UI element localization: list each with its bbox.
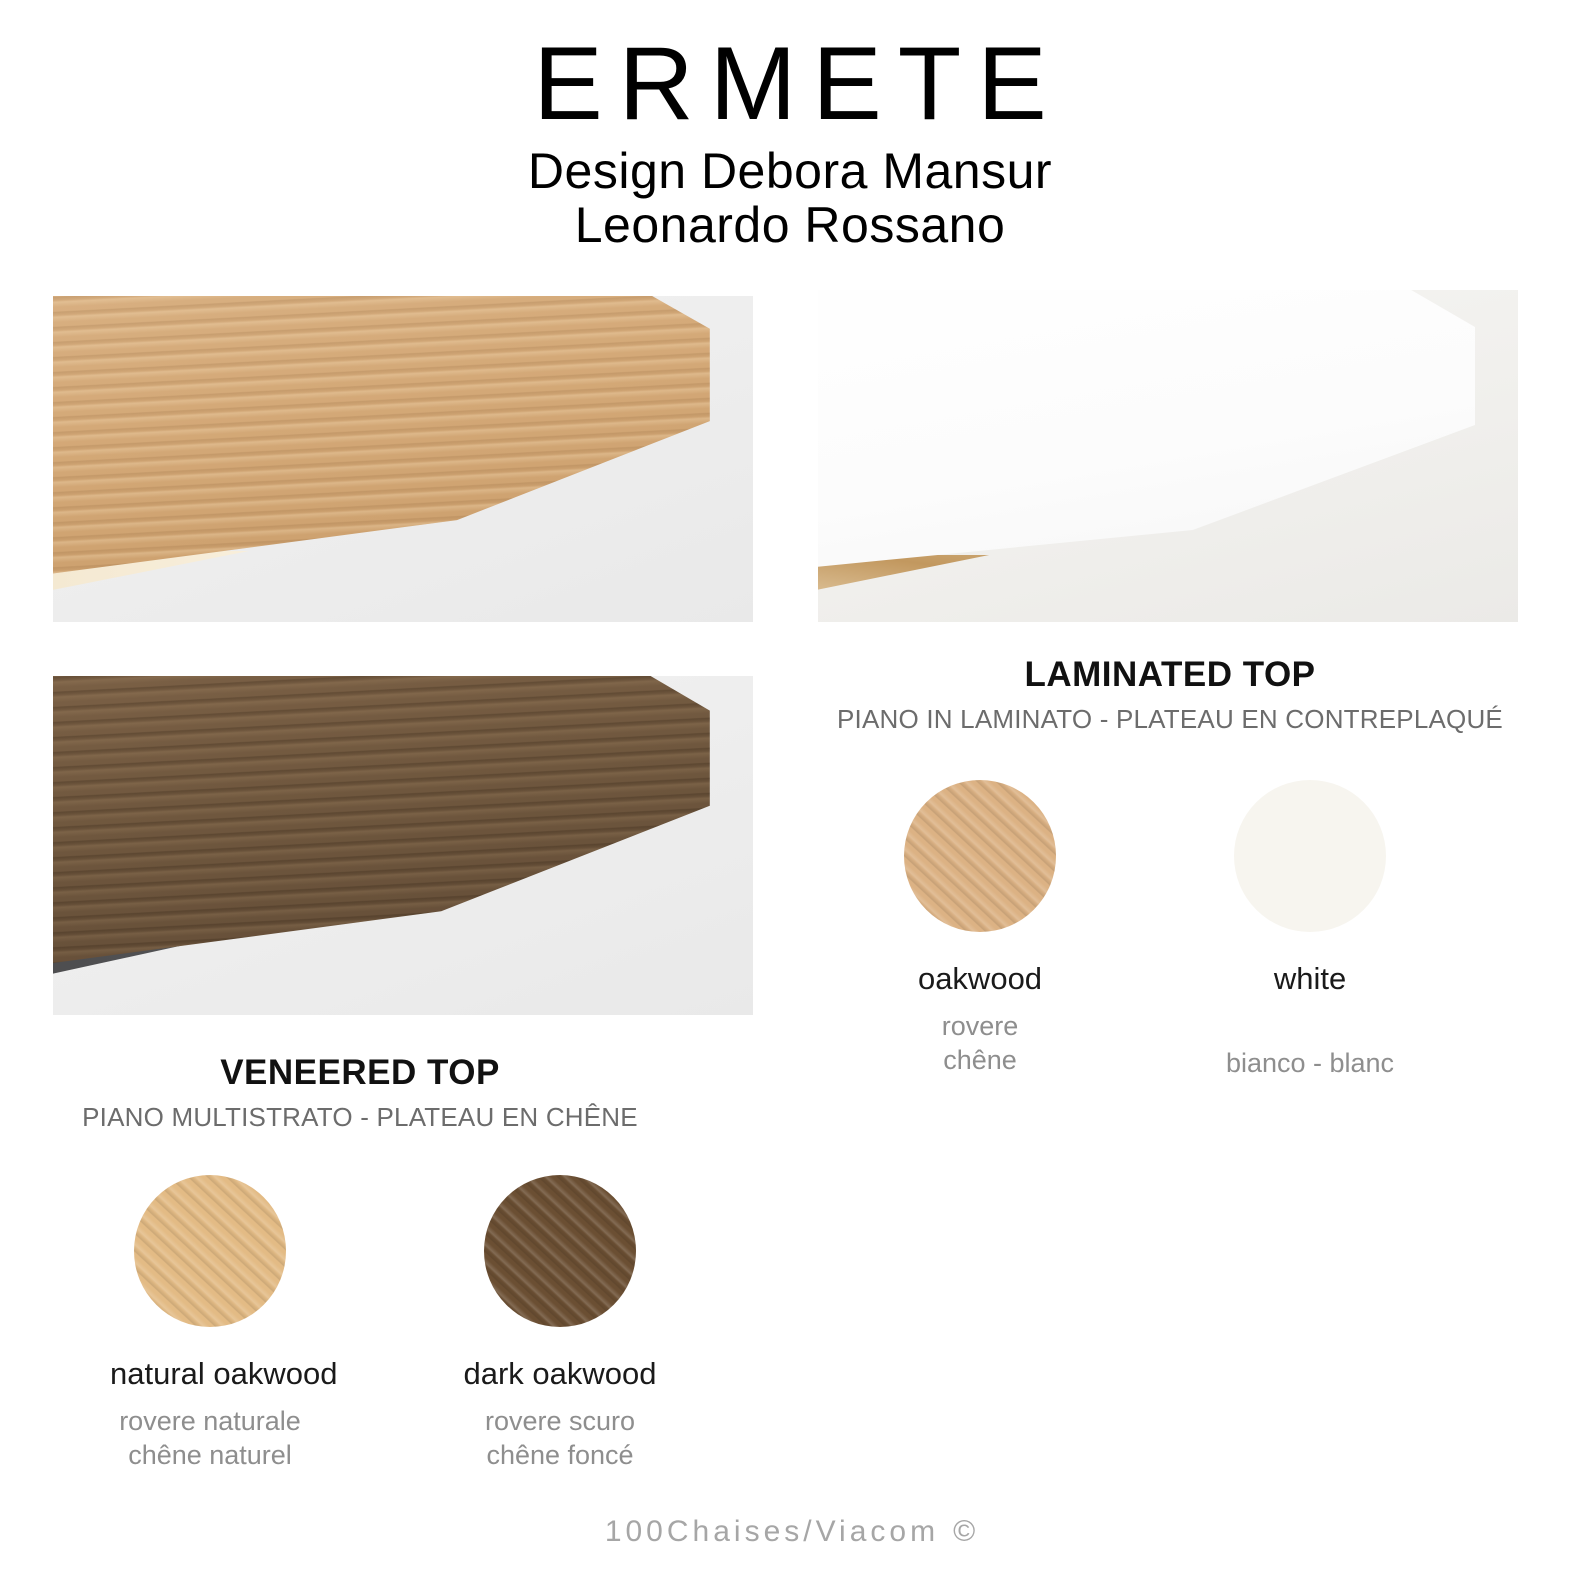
swatch-alt-fr-oakwood: chêne: [880, 1044, 1080, 1078]
photo-white-laminate-table-corner: [818, 290, 1518, 622]
designer-line-1: Design Debora Mansur: [0, 144, 1580, 198]
swatch-alt-it-oakwood: rovere: [880, 1010, 1080, 1044]
wood-grain-texture: [134, 1175, 286, 1327]
wood-grain-texture: [484, 1175, 636, 1327]
swatch-disc-dark-oakwood[interactable]: [484, 1175, 636, 1327]
swatch-row-veneered: natural oakwood rovere naturale chêne na…: [55, 1175, 810, 1473]
section-title-laminated: LAMINATED TOP: [790, 655, 1550, 695]
swatch-item-dark-oakwood[interactable]: dark oakwood rovere scuro chêne foncé: [460, 1175, 660, 1473]
brand-title: ERMETE: [0, 34, 1580, 136]
footer-credit: 100Chaises/Viacom©: [0, 1515, 1580, 1549]
section-title-veneered: VENEERED TOP: [20, 1053, 700, 1093]
photo-dark-oak-table-corner: [53, 676, 753, 1015]
wood-grain-texture: [904, 780, 1056, 932]
wood-grain-texture: [1234, 780, 1386, 932]
copyright-icon: ©: [953, 1515, 975, 1548]
swatch-item-natural-oakwood[interactable]: natural oakwood rovere naturale chêne na…: [110, 1175, 310, 1473]
page-header: ERMETE Design Debora Mansur Leonardo Ros…: [0, 0, 1580, 252]
swatch-alt-fr-dark-oakwood: chêne foncé: [460, 1439, 660, 1473]
section-heading-laminated: LAMINATED TOP PIANO IN LAMINATO - PLATEA…: [790, 655, 1550, 735]
swatch-name-natural-oakwood: natural oakwood: [110, 1356, 310, 1392]
swatch-name-oakwood: oakwood: [880, 961, 1080, 997]
section-subtitle-veneered: PIANO MULTISTRATO - PLATEAU EN CHÊNE: [20, 1102, 700, 1133]
photo-natural-oak-table-corner: [53, 296, 753, 622]
swatch-alt-it-white: bianco - blanc: [1210, 1047, 1410, 1081]
swatch-disc-white[interactable]: [1234, 780, 1386, 932]
swatch-item-oakwood[interactable]: oakwood rovere chêne: [880, 780, 1080, 1081]
swatch-name-white: white: [1210, 961, 1410, 997]
swatch-name-dark-oakwood: dark oakwood: [460, 1356, 660, 1392]
swatch-disc-oakwood[interactable]: [904, 780, 1056, 932]
swatch-alt-it-natural-oakwood: rovere naturale: [110, 1405, 310, 1439]
footer-credit-text: 100Chaises/Viacom: [605, 1515, 939, 1548]
designer-line-2: Leonardo Rossano: [0, 198, 1580, 252]
section-heading-veneered: VENEERED TOP PIANO MULTISTRATO - PLATEAU…: [20, 1053, 700, 1133]
swatch-alt-fr-natural-oakwood: chêne naturel: [110, 1439, 310, 1473]
swatch-alt-it-dark-oakwood: rovere scuro: [460, 1405, 660, 1439]
section-subtitle-laminated: PIANO IN LAMINATO - PLATEAU EN CONTREPLA…: [790, 704, 1550, 735]
swatch-disc-natural-oakwood[interactable]: [134, 1175, 286, 1327]
swatch-row-laminated: oakwood rovere chêne white bianco - blan…: [830, 780, 1580, 1081]
swatch-item-white[interactable]: white bianco - blanc: [1210, 780, 1410, 1081]
